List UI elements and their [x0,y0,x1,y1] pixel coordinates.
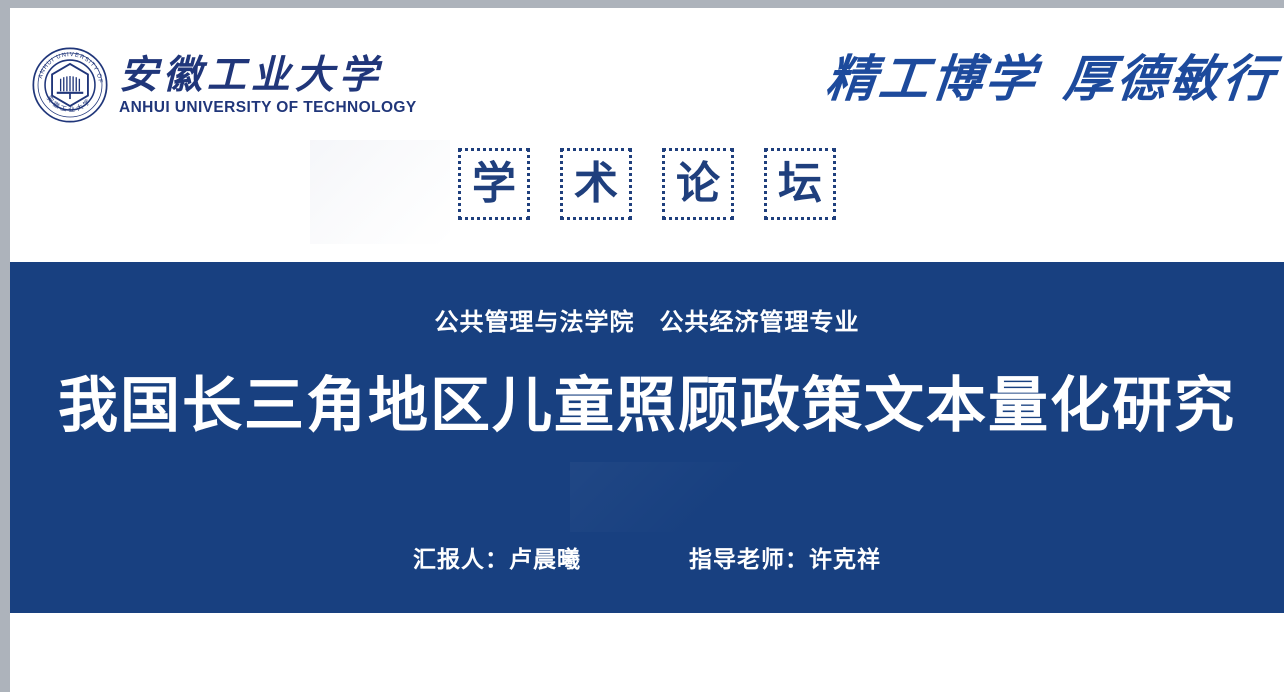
university-logo: ANHUI UNIVERSITY OF TECHNOLOGY 安徽工业大学 安徽… [31,46,417,124]
slide-header: ANHUI UNIVERSITY OF TECHNOLOGY 安徽工业大学 安徽… [10,8,1284,262]
slide-window-frame: ANHUI UNIVERSITY OF TECHNOLOGY 安徽工业大学 安徽… [0,0,1284,692]
university-seal-icon: ANHUI UNIVERSITY OF TECHNOLOGY 安徽工业大学 [31,46,109,124]
forum-box-2: 术 [560,148,632,220]
forum-char-1: 学 [472,162,516,206]
forum-char-3: 论 [676,162,720,206]
academic-forum-label: 学 术 论 坛 [10,148,1284,220]
university-name-cn: 安徽工业大学 [119,54,417,96]
presentation-title: 我国长三角地区儿童照顾政策文本量化研究 [10,372,1284,439]
title-banner: 公共管理与法学院 公共经济管理专业 我国长三角地区儿童照顾政策文本量化研究 汇报… [10,262,1284,613]
department-major-subtitle: 公共管理与法学院 公共经济管理专业 [10,302,1284,337]
forum-box-4: 坛 [764,148,836,220]
motto-phrase-1: 精工博学 [823,54,1040,104]
advisor-name: 指导老师：许克祥 [689,540,881,574]
credits-row: 汇报人：卢晨曦 指导老师：许克祥 [10,540,1284,574]
slide-canvas: ANHUI UNIVERSITY OF TECHNOLOGY 安徽工业大学 安徽… [10,8,1284,692]
university-wordmark: 安徽工业大学 ANHUI UNIVERSITY OF TECHNOLOGY [119,54,417,116]
forum-box-1: 学 [458,148,530,220]
motto-phrase-2: 厚德敏行 [1061,54,1278,104]
university-name-en: ANHUI UNIVERSITY OF TECHNOLOGY [119,99,417,116]
forum-char-4: 坛 [778,162,822,206]
slide-footer [10,613,1284,692]
forum-box-3: 论 [662,148,734,220]
banner-watermark [570,462,770,532]
university-motto: 精工博学 厚德敏行 [826,54,1276,104]
presenter-name: 汇报人：卢晨曦 [413,540,581,574]
forum-char-2: 术 [574,162,618,206]
